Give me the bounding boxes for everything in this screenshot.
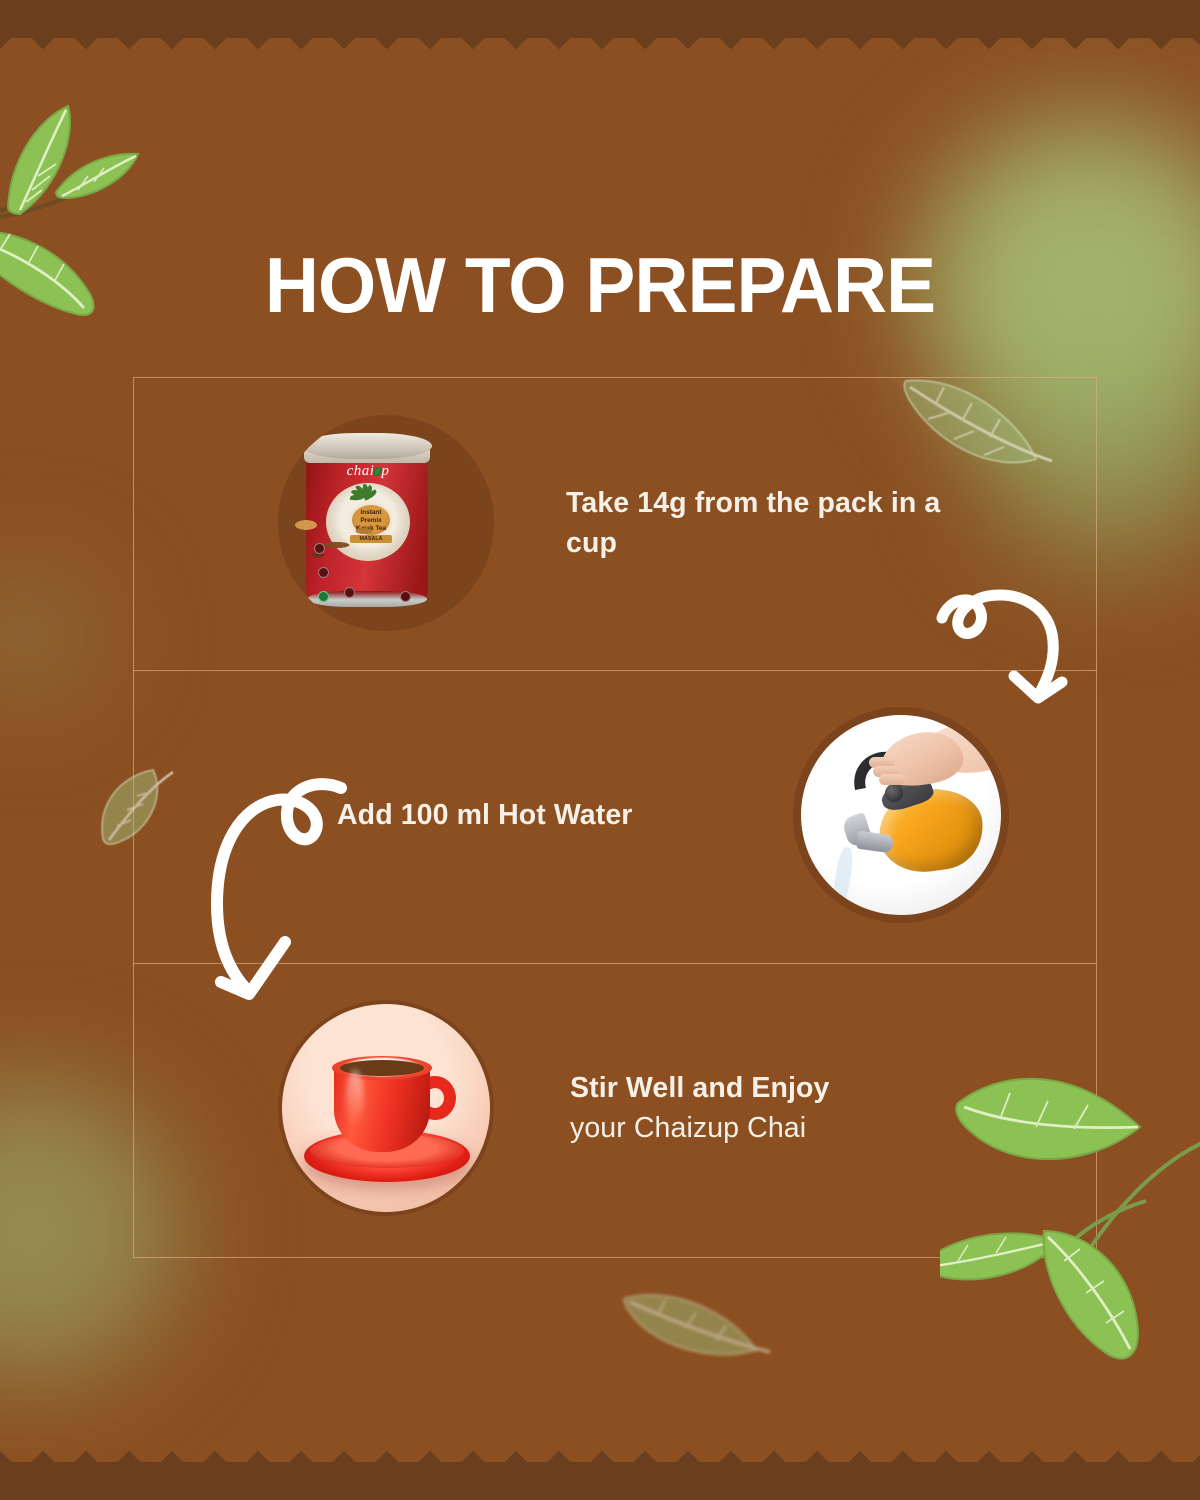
bottom-edge-band	[0, 1462, 1200, 1500]
kettle-knob	[885, 784, 903, 802]
chaizup-tin-image: chaip Instant Premix Karak Tea MASALA	[278, 415, 494, 631]
green-glow-left	[0, 560, 110, 710]
tin-certification-badges	[278, 415, 494, 631]
fingers	[867, 757, 929, 783]
step-3-text-bold: Stir Well and Enjoy	[570, 1068, 990, 1108]
teacup-disc	[282, 1004, 490, 1212]
kettle-disc	[801, 715, 1001, 915]
step-2-text: Add 100 ml Hot Water	[337, 795, 737, 835]
step-row-1: chaip Instant Premix Karak Tea MASALA	[133, 377, 1097, 669]
step-1-text: Take 14g from the pack in a cup	[566, 483, 986, 564]
kettle-pouring-image	[793, 707, 1009, 923]
step-row-2: Add 100 ml Hot Water	[133, 669, 1097, 961]
cup-highlight	[346, 1070, 364, 1128]
how-to-prepare-poster: HOW TO PREPARE chaip	[0, 0, 1200, 1500]
bottom-edge-zigzag	[0, 1445, 1200, 1467]
step-row-3: Stir Well and Enjoy your Chaizup Chai	[133, 962, 1097, 1254]
page-title: HOW TO PREPARE	[24, 240, 1176, 331]
floating-leaf-bottom-icon	[620, 1280, 780, 1370]
step-3-text: Stir Well and Enjoy your Chaizup Chai	[570, 1068, 990, 1149]
top-edge-zigzag	[0, 33, 1200, 55]
step-3-text-regular: your Chaizup Chai	[570, 1108, 990, 1148]
red-teacup-image	[278, 1000, 494, 1216]
